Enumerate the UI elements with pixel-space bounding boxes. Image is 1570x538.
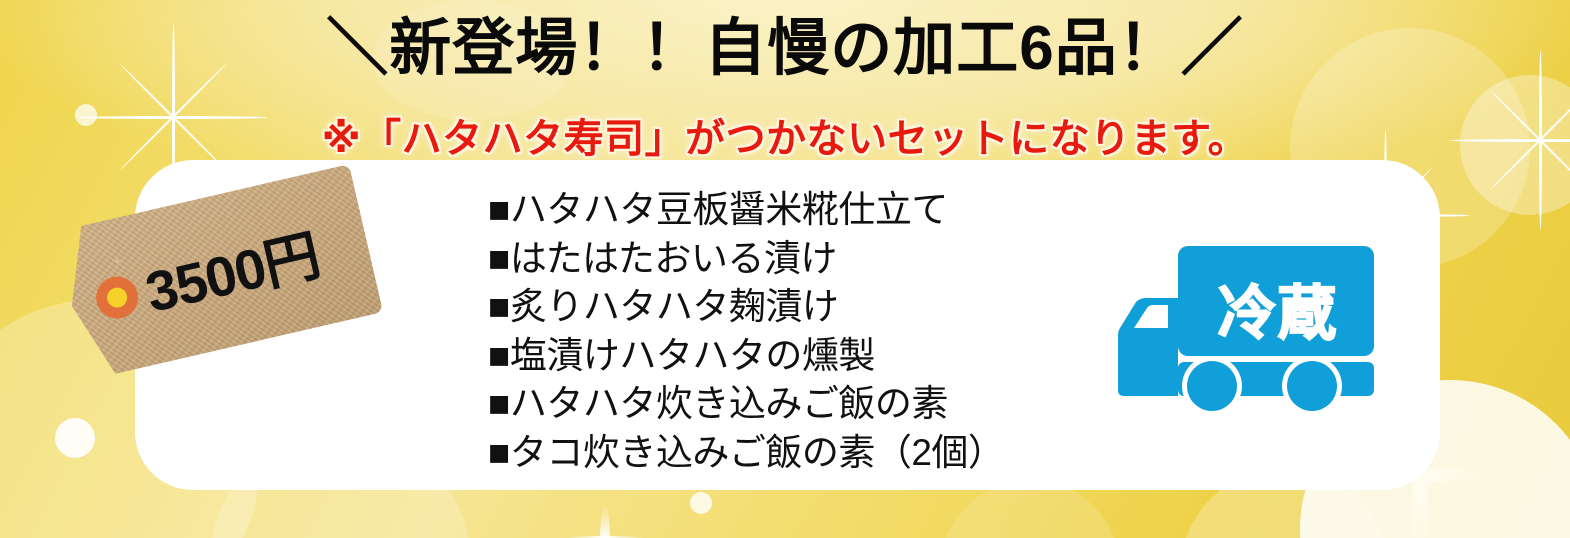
- list-item: ■ハタハタ豆板醤米糀仕立て: [488, 186, 1108, 235]
- sparkle-star-icon: [560, 505, 650, 538]
- refrigerated-truck-icon: 冷蔵: [1100, 228, 1390, 428]
- banner-subline: ※「ハタハタ寿司」がつかないセットになります。: [0, 106, 1570, 164]
- list-item: ■塩漬けハタハタの燻製: [488, 332, 1108, 381]
- list-item: ■はたはたおいる漬け: [488, 235, 1108, 284]
- promo-banner: ＼新登場！！自慢の加工6品！／ ※「ハタハタ寿司」がつかないセットになります。 …: [0, 0, 1570, 538]
- list-item: ■タコ炊き込みご飯の素（2個）: [488, 429, 1108, 478]
- banner-headline: ＼新登場！！自慢の加工6品！／: [0, 16, 1570, 81]
- list-item: ■ハタハタ炊き込みご飯の素: [488, 380, 1108, 429]
- bokeh-circle: [690, 492, 712, 514]
- shipping-badge-label: 冷蔵: [1218, 266, 1338, 350]
- product-list: ■ハタハタ豆板醤米糀仕立て ■はたはたおいる漬け ■炙りハタハタ麹漬け ■塩漬け…: [488, 186, 1108, 478]
- list-item: ■炙りハタハタ麹漬け: [488, 283, 1108, 332]
- bokeh-circle: [55, 418, 95, 458]
